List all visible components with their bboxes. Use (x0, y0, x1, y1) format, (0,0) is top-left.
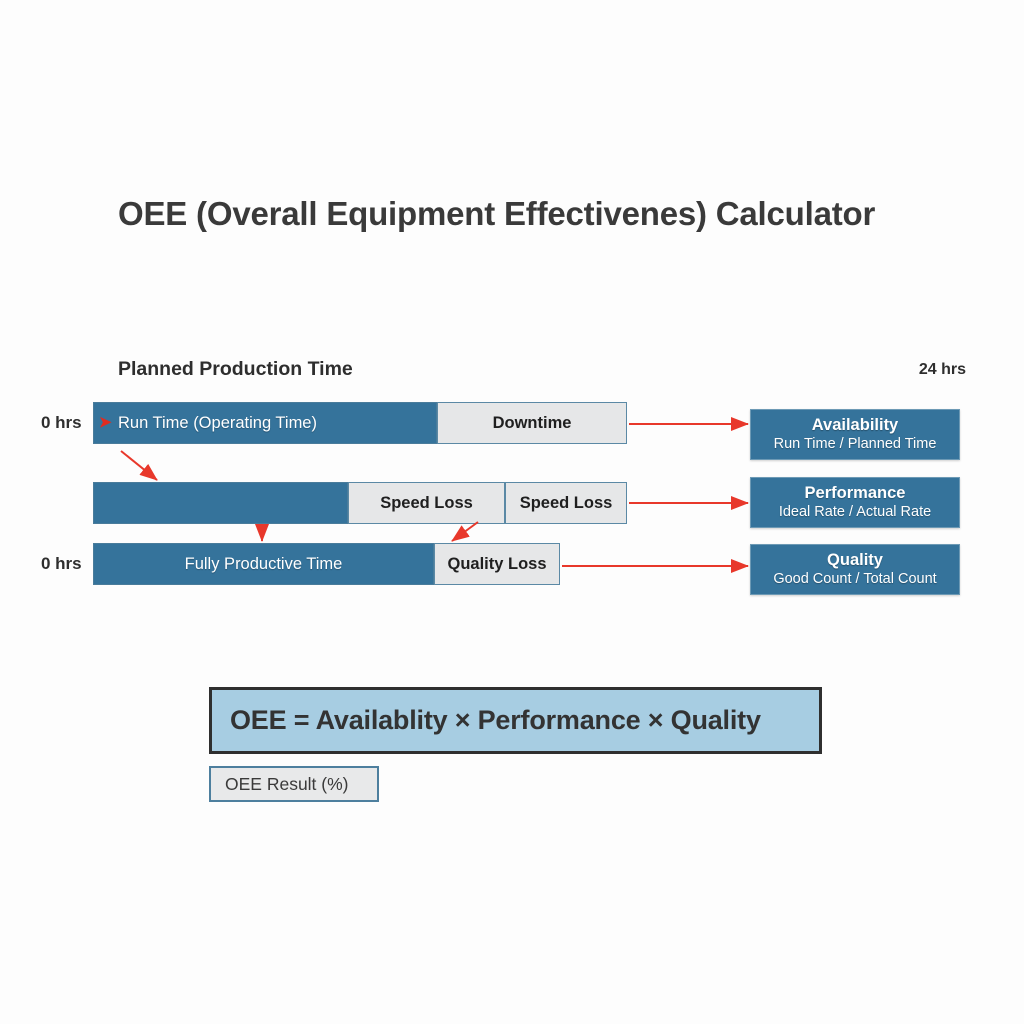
segment-speed-loss-1[interactable]: Speed Loss (348, 482, 505, 524)
arrow-run-time-to-net-run-time (121, 451, 157, 480)
metric-performance-formula: Ideal Rate / Actual Rate (779, 503, 931, 521)
metric-box-performance[interactable]: Performance Ideal Rate / Actual Rate (750, 477, 960, 528)
oee-formula-text: OEE = Availablity × Performance × Qualit… (230, 705, 761, 736)
metric-performance-title: Performance (805, 484, 906, 503)
segment-run-time-label: Run Time (Operating Time) (118, 414, 317, 433)
segment-quality-loss-label: Quality Loss (447, 555, 546, 574)
planned-production-time-heading: Planned Production Time (118, 358, 353, 381)
scale-end-label: 24 hrs (919, 361, 966, 379)
oee-result-field[interactable]: OEE Result (%) (209, 766, 379, 802)
segment-fully-productive-time-label: Fully Productive Time (185, 555, 343, 574)
timeline-row-availability: Run Time (Operating Time) Downtime (93, 402, 627, 444)
metric-availability-title: Availability (812, 416, 899, 435)
oee-formula-box: OEE = Availablity × Performance × Qualit… (209, 687, 822, 754)
segment-speed-loss-1-label: Speed Loss (380, 494, 473, 513)
metric-availability-formula: Run Time / Planned Time (774, 435, 937, 453)
metric-box-availability[interactable]: Availability Run Time / Planned Time (750, 409, 960, 460)
segment-net-run-time[interactable] (93, 482, 348, 524)
row3-axis-label: 0 hrs (41, 554, 82, 574)
metric-quality-formula: Good Count / Total Count (773, 570, 936, 588)
page-title: OEE (Overall Equipment Effectivenes) Cal… (118, 192, 878, 237)
row1-axis-label: 0 hrs (41, 413, 82, 433)
oee-result-label: OEE Result (%) (225, 774, 349, 795)
timeline-row-quality: Fully Productive Time Quality Loss (93, 543, 560, 585)
metric-quality-title: Quality (827, 551, 883, 570)
segment-quality-loss[interactable]: Quality Loss (434, 543, 560, 585)
timeline-row-performance: Speed Loss Speed Loss (93, 482, 627, 524)
segment-downtime-label: Downtime (493, 414, 572, 433)
segment-fully-productive-time[interactable]: Fully Productive Time (93, 543, 434, 585)
segment-downtime[interactable]: Downtime (437, 402, 627, 444)
oee-diagram-canvas: OEE (Overall Equipment Effectivenes) Cal… (0, 0, 1024, 1024)
segment-speed-loss-2-label: Speed Loss (520, 494, 613, 513)
metric-box-quality[interactable]: Quality Good Count / Total Count (750, 544, 960, 595)
segment-speed-loss-2[interactable]: Speed Loss (505, 482, 627, 524)
segment-run-time[interactable]: Run Time (Operating Time) (93, 402, 437, 444)
run-time-marker-icon: ➤ (99, 415, 112, 430)
arrow-speed-loss-to-quality-loss (452, 522, 478, 541)
